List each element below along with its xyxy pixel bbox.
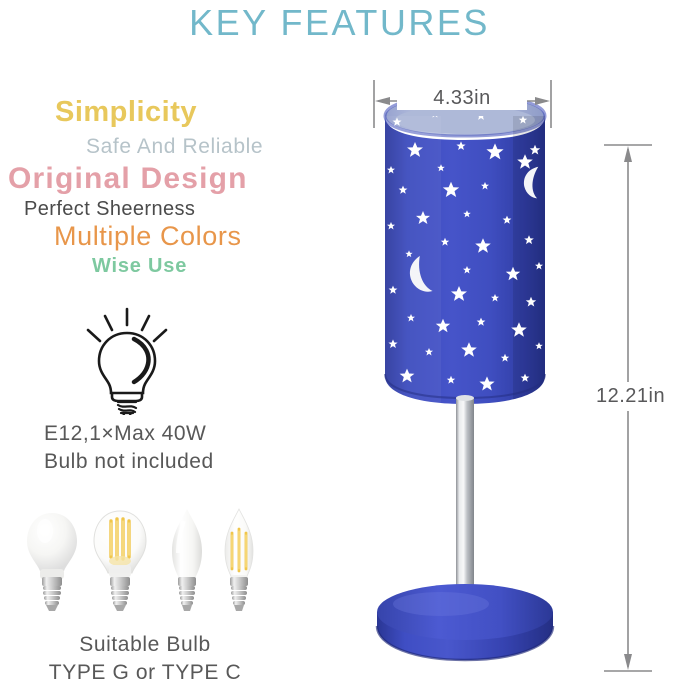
product-infographic: KEY FEATURES Simplicity Safe And Reliabl… xyxy=(0,0,679,686)
dimension-width-label: 4.33in xyxy=(397,87,527,110)
dimension-annotations xyxy=(0,0,679,686)
dimension-height-label: 12.21in xyxy=(596,382,665,411)
